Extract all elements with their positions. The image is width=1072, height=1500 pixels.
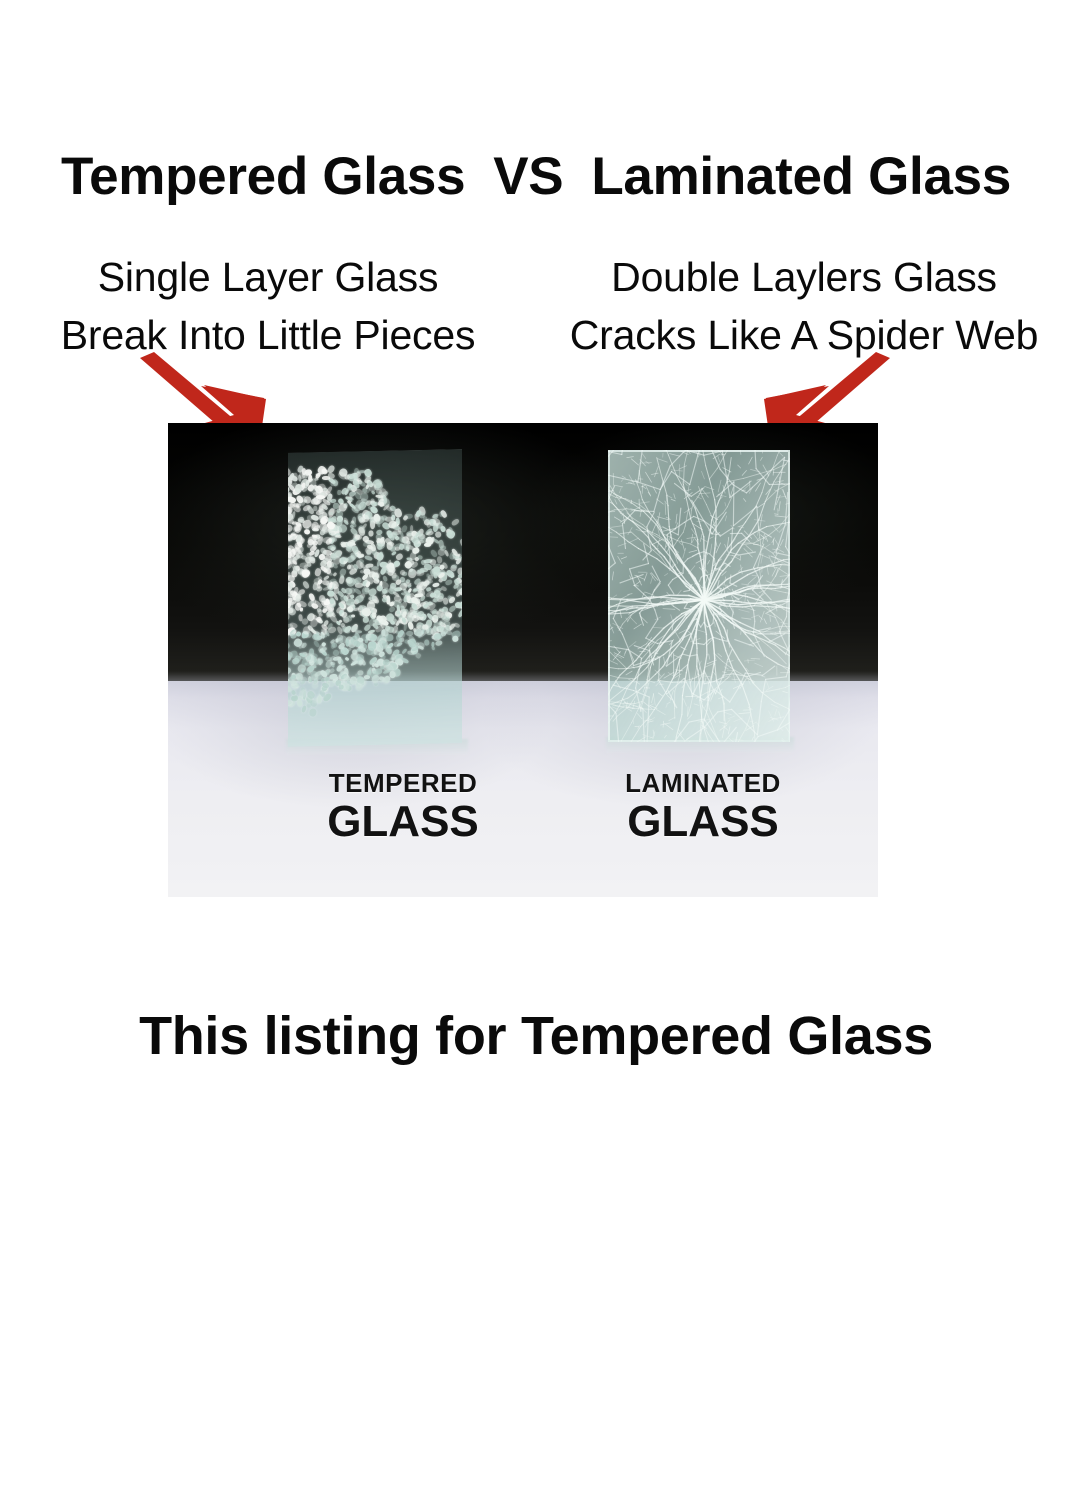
listing-note: This listing for Tempered Glass (0, 1003, 1072, 1069)
title-versus-separator: VS (493, 146, 563, 208)
laminated-crack-web (608, 450, 790, 742)
photo-label-tempered-big: GLASS (238, 798, 568, 845)
photo-label-laminated: LAMINATED GLASS (538, 769, 868, 845)
photo-label-tempered-small: TEMPERED (238, 769, 568, 798)
tempered-glass-pane (288, 449, 462, 747)
left-caption-line-2: Break Into Little Pieces (8, 306, 528, 364)
photo-label-tempered: TEMPERED GLASS (238, 769, 568, 845)
photo-label-laminated-small: LAMINATED (538, 769, 868, 798)
right-caption-line-1: Double Laylers Glass (536, 248, 1072, 306)
comparison-infographic-page: Tempered GlassVSLaminated Glass Single L… (0, 0, 1072, 1500)
page-title: Tempered GlassVSLaminated Glass (0, 146, 1072, 208)
tempered-fragments (288, 449, 462, 747)
photo-label-laminated-big: GLASS (538, 798, 868, 845)
title-right-term: Laminated Glass (591, 146, 1011, 208)
right-caption-block: Double Laylers Glass Cracks Like A Spide… (536, 248, 1072, 364)
left-caption-line-1: Single Layer Glass (8, 248, 528, 306)
title-left-term: Tempered Glass (61, 146, 465, 208)
left-caption-block: Single Layer Glass Break Into Little Pie… (8, 248, 528, 364)
glass-comparison-photo: TEMPERED GLASS LAMINATED GLASS (168, 423, 878, 897)
right-caption-line-2: Cracks Like A Spider Web (536, 306, 1072, 364)
laminated-glass-pane (608, 450, 790, 742)
